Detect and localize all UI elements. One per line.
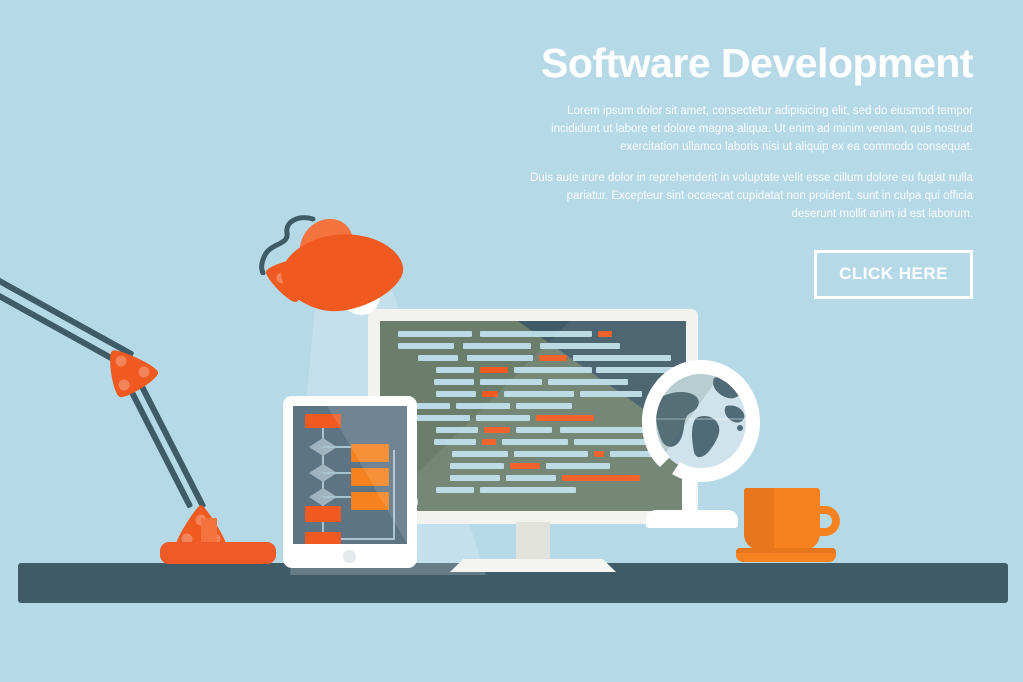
code-token (398, 331, 472, 337)
code-token (436, 367, 474, 373)
coffee-cup (736, 484, 848, 570)
code-token (458, 355, 467, 361)
globe-base (646, 510, 738, 528)
hero-paragraph-2: Duis aute irure dolor in reprehenderit i… (523, 170, 973, 223)
code-token (418, 355, 458, 361)
code-token-accent (480, 367, 508, 373)
code-token (531, 343, 540, 349)
lamp-shade (278, 217, 408, 317)
lamp-base (160, 542, 276, 564)
code-token (398, 343, 454, 349)
desk-lamp[interactable] (100, 215, 400, 575)
monitor-neck (516, 522, 550, 564)
hero-paragraph-1: Lorem ipsum dolor sit amet, consectetur … (523, 103, 973, 156)
code-token (463, 343, 531, 349)
code-token (416, 415, 470, 421)
lamp-middle-joint (104, 345, 162, 401)
code-token (472, 331, 480, 337)
code-token (434, 379, 474, 385)
code-token (416, 403, 450, 409)
page-title: Software Development (523, 42, 973, 85)
globe-meridian-ring (638, 358, 764, 486)
code-token (454, 343, 463, 349)
cup-body-shade (744, 488, 774, 550)
click-here-button[interactable]: CLICK HERE (814, 250, 973, 299)
code-token (436, 391, 476, 397)
cup-saucer-shade (736, 548, 836, 553)
hero-text-block: Software Development Lorem ipsum dolor s… (523, 42, 973, 299)
illustration-canvas: Software Development Lorem ipsum dolor s… (0, 0, 1023, 682)
code-token (467, 355, 533, 361)
monitor-base (450, 559, 616, 572)
